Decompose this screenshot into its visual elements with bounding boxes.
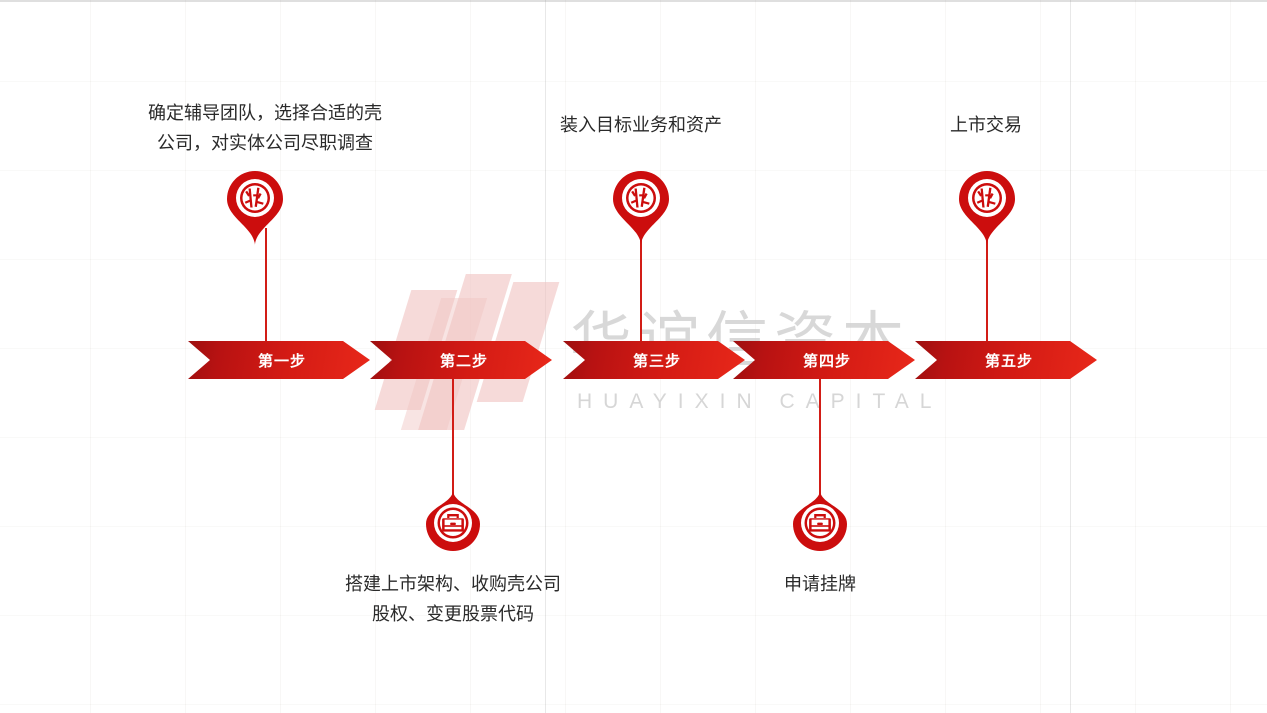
marker-pin-step-2[interactable] [425,490,481,552]
watermark-english-text: HUAYIXIN CAPITAL [577,390,942,414]
huayixin-logo-icon [226,170,284,246]
marker-pin-step-5[interactable] [958,170,1016,246]
step-label-4: 第四步 [797,350,851,371]
step-label-3: 第三步 [627,350,681,371]
caption-step-4: 申请挂牌 [740,570,900,600]
briefcase-icon [792,490,848,552]
marker-pin-step-3[interactable] [612,170,670,246]
process-step-bar: 第一步 第二步 第三步 第四步 第五步 [0,341,1267,379]
caption-step-2: 搭建上市架构、收购壳公司 股权、变更股票代码 [293,570,613,630]
briefcase-icon [425,490,481,552]
step-chevron-4[interactable]: 第四步 [733,341,915,379]
step-label-1: 第一步 [252,350,306,371]
caption-step-1: 确定辅导团队，选择合适的壳 公司，对实体公司尽职调查 [105,99,425,159]
marker-pin-step-4[interactable] [792,490,848,552]
marker-pin-step-1[interactable] [226,170,284,246]
background-top-rule [0,0,1267,2]
connector-line-step-4 [819,374,821,502]
step-label-2: 第二步 [434,350,488,371]
huayixin-logo-icon [612,170,670,246]
step-chevron-2[interactable]: 第二步 [370,341,552,379]
slide-canvas: 华谊信资本 HUAYIXIN CAPITAL [0,0,1267,713]
step-chevron-5[interactable]: 第五步 [915,341,1097,379]
step-chevron-1[interactable]: 第一步 [188,341,370,379]
step-label-5: 第五步 [979,350,1033,371]
caption-step-5: 上市交易 [901,111,1071,141]
step-chevron-3[interactable]: 第三步 [563,341,745,379]
connector-line-step-2 [452,374,454,502]
caption-step-3: 装入目标业务和资产 [521,111,761,141]
huayixin-logo-icon [958,170,1016,246]
